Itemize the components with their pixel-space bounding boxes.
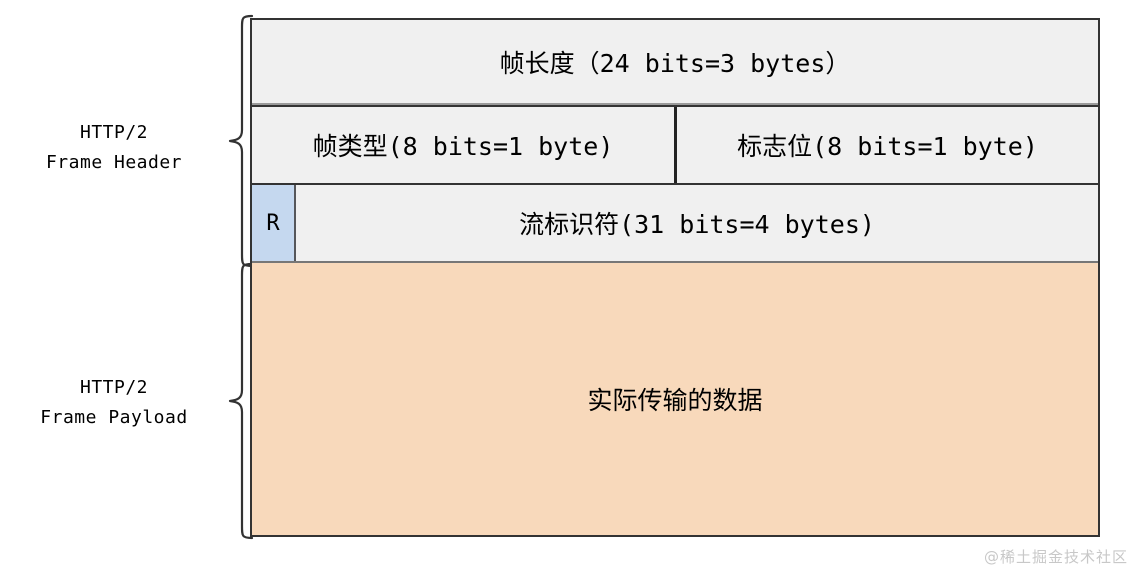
frame-header-label-line1: HTTP/2 — [80, 122, 148, 143]
table-row-frame-length: 帧长度（24 bits=3 bytes） — [252, 20, 1098, 105]
table-row-stream-identifier: R 流标识符(31 bits=4 bytes) — [252, 185, 1098, 263]
table-row-type-flags: 帧类型(8 bits=1 byte) 标志位(8 bits=1 byte) — [252, 105, 1098, 185]
cell-stream-identifier: 流标识符(31 bits=4 bytes) — [296, 185, 1098, 261]
diagram-canvas: HTTP/2 Frame Header HTTP/2 Frame Payload… — [0, 0, 1142, 575]
frame-payload-label: HTTP/2 Frame Payload — [0, 373, 228, 433]
frame-payload-label-line2: Frame Payload — [0, 403, 228, 433]
watermark: @稀土掘金技术社区 — [984, 546, 1128, 567]
cell-frame-length: 帧长度（24 bits=3 bytes） — [252, 20, 1098, 103]
cell-reserved-bit: R — [252, 185, 296, 261]
cell-payload-data: 实际传输的数据 — [252, 263, 1098, 535]
table-row-payload: 实际传输的数据 — [252, 263, 1098, 535]
cell-frame-flags: 标志位(8 bits=1 byte) — [677, 107, 1098, 183]
cell-frame-type: 帧类型(8 bits=1 byte) — [252, 107, 677, 183]
frame-header-label-line2: Frame Header — [0, 148, 228, 178]
frame-header-label: HTTP/2 Frame Header — [0, 118, 228, 178]
frame-payload-label-line1: HTTP/2 — [80, 377, 148, 398]
http2-frame-structure: 帧长度（24 bits=3 bytes） 帧类型(8 bits=1 byte) … — [250, 18, 1100, 537]
